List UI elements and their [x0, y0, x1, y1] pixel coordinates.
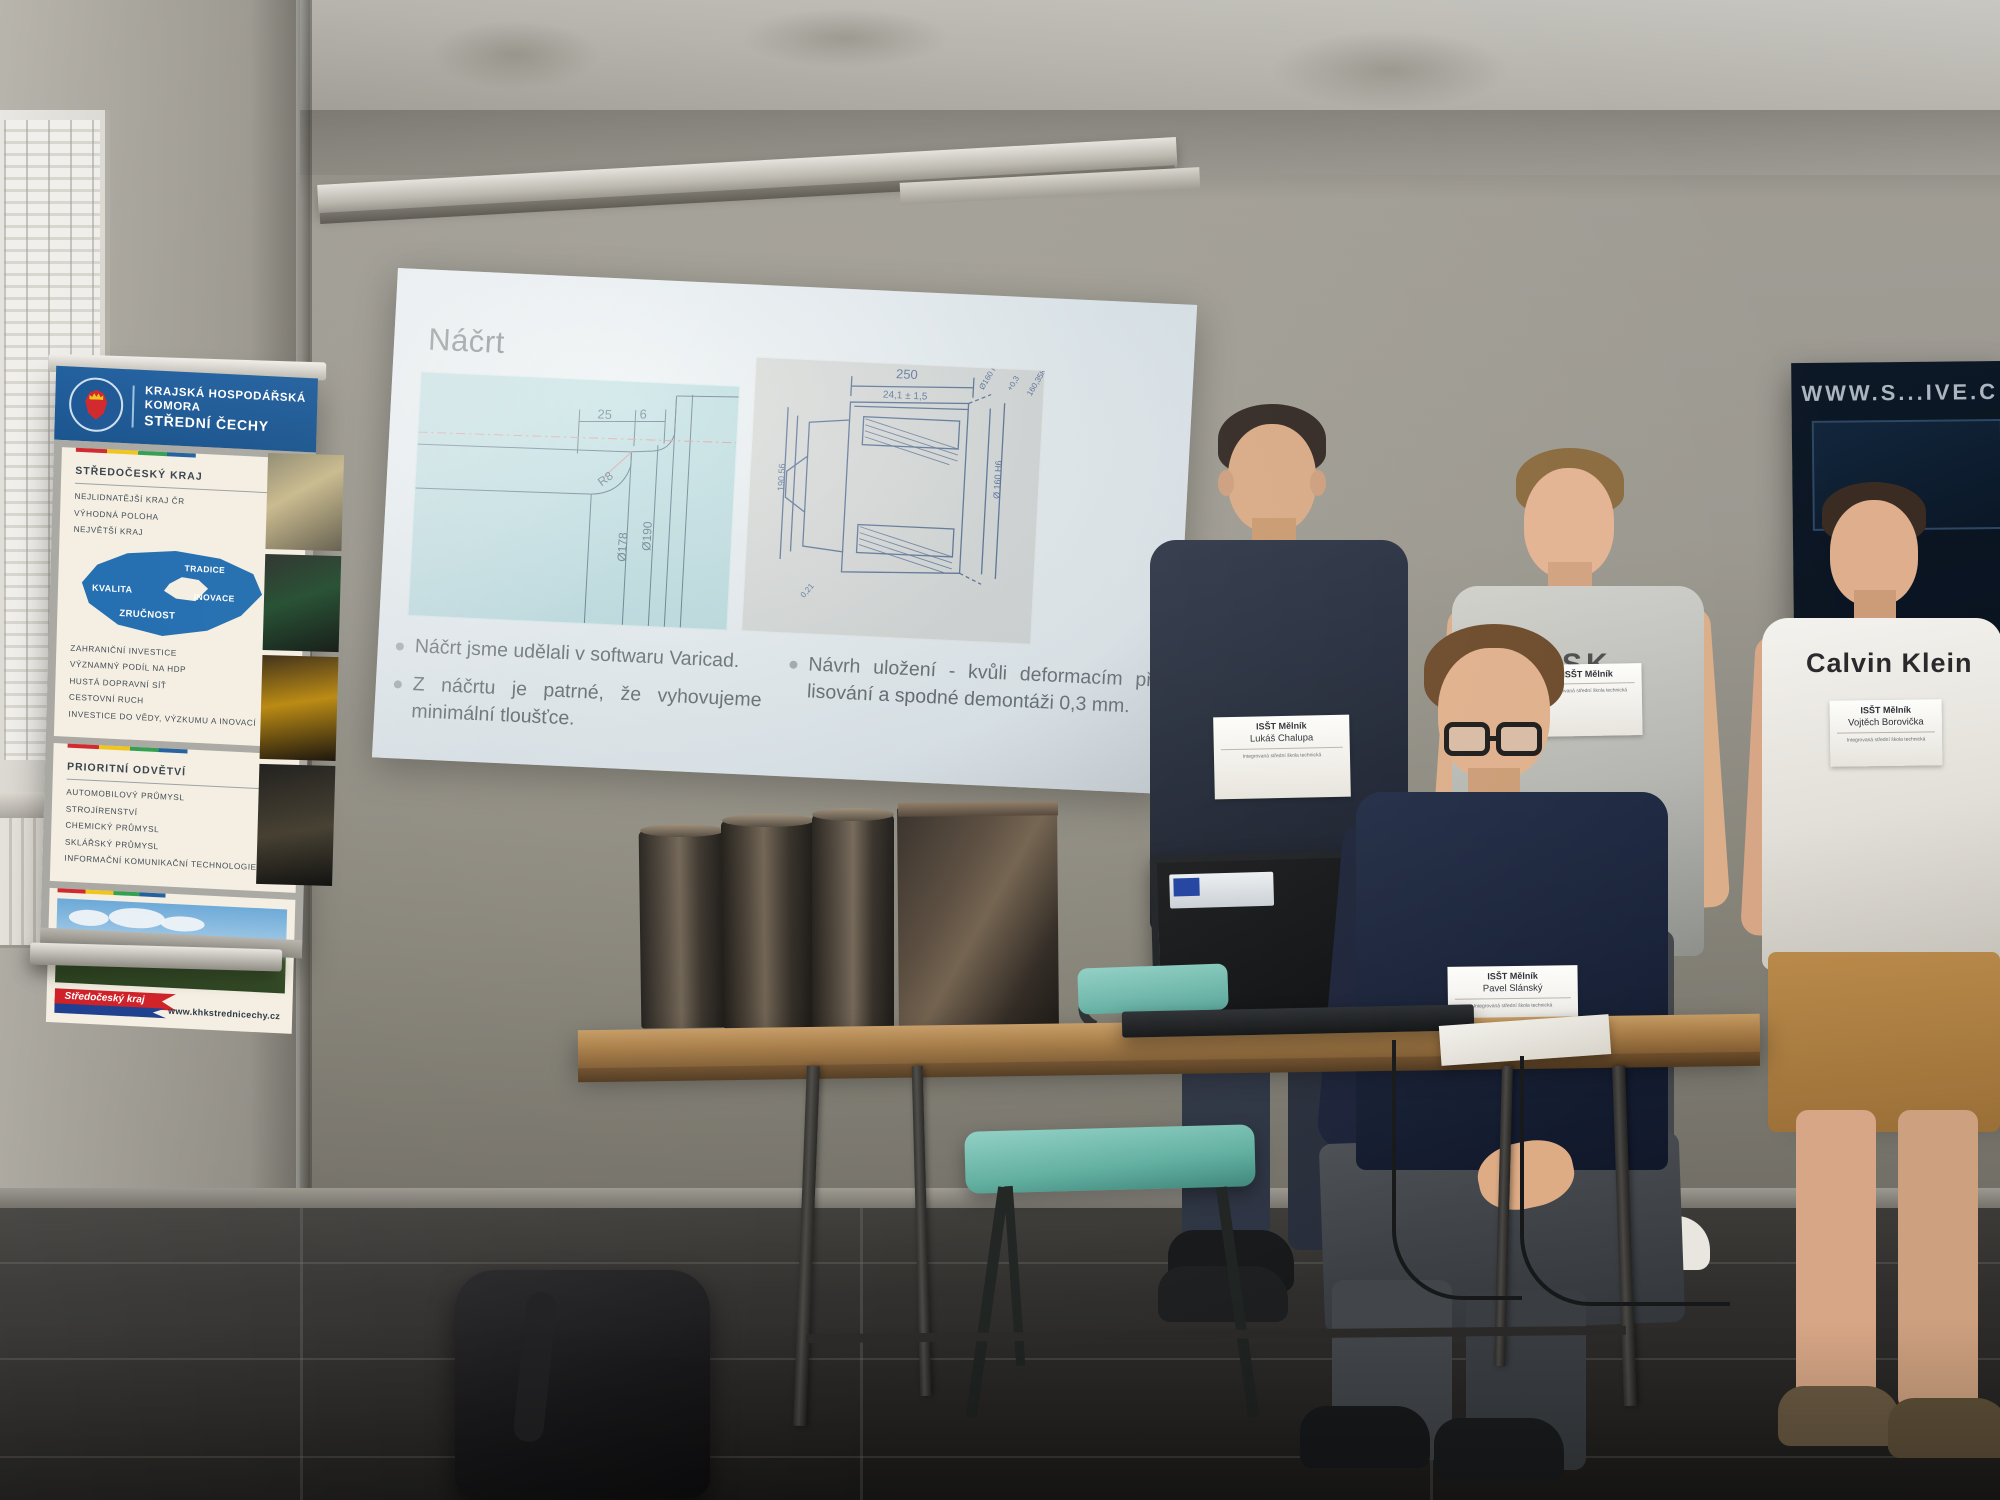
sketch-dim-241: 24,1 ± 1,5 [883, 390, 928, 403]
card-heading: PRIORITNÍ ODVĚTVÍ [67, 755, 287, 784]
dark-banner-top-text: WWW.S...IVE.C [1791, 379, 2000, 407]
ear-right [1310, 470, 1326, 496]
shoe-left [1300, 1406, 1430, 1468]
banner-org-name: KRAJSKÁ HOSPODÁŘSKÁ KOMORA STŘEDNÍ ČECHY [144, 385, 317, 437]
bullet-column-right: Návrh uložení - kvůli deformacím při lis… [785, 651, 1158, 771]
badge-rule [1221, 747, 1343, 751]
cylinder-rim [812, 808, 894, 821]
metal-cylinder [812, 814, 894, 1028]
cad-dim-190: Ø190 [639, 521, 655, 551]
badge-name: Lukáš Chalupa [1214, 732, 1350, 746]
ceiling-stain [740, 8, 950, 68]
eu-flag-icon [1173, 878, 1199, 897]
shirt-print: Calvin Klein [1806, 648, 1986, 682]
slide-title: Náčrt [427, 321, 505, 360]
badge-school: ISŠT Mělník [1448, 970, 1578, 982]
bullet-item: Návrh uložení - kvůli deformacím při lis… [787, 651, 1157, 722]
cloud [161, 915, 205, 932]
backpack [455, 1270, 710, 1498]
badge-school: ISŠT Mělník [1213, 720, 1349, 733]
projection-screen: Náčrt [372, 268, 1197, 794]
shoe-left [1778, 1386, 1900, 1446]
badge-rule [1455, 997, 1571, 1000]
eyeglasses-left-lens [1444, 722, 1490, 756]
badge-note: Integrovaná střední škola technická [1214, 752, 1350, 761]
sketch-note-4: 0,21 [799, 581, 816, 599]
bullet-text: Z náčrtu je patrné, že vyhovujeme minimá… [411, 671, 762, 741]
laptop-sticker [1169, 872, 1274, 909]
name-badge: ISŠT Mělník Lukáš Chalupa Integrovaná st… [1213, 715, 1351, 800]
bullet-dot-icon [789, 661, 797, 669]
leg-right [1898, 1110, 1978, 1410]
bullet-dot-icon [394, 680, 402, 688]
shorts [1768, 952, 2000, 1132]
cad-right-svg: 250 24,1 ± 1,5 190 56 Ø 160 H6 Ø160 H6 +… [742, 358, 1045, 645]
map-word: KVALITA [92, 582, 133, 594]
ear-left [1218, 470, 1234, 496]
shoe-right [1888, 1398, 2000, 1458]
banner-header: KRAJSKÁ HOSPODÁŘSKÁ KOMORA STŘEDNÍ ČECHY [54, 366, 318, 453]
badge-name: Pavel Slánský [1448, 982, 1578, 995]
cad-dim-25: 25 [597, 406, 612, 422]
bullet-item: Z náčrtu je patrné, že vyhovujeme minimá… [392, 670, 762, 741]
badge-note: Integrovaná střední škola technická [1830, 736, 1942, 744]
badge-school: ISŠT Mělník [1830, 704, 1942, 716]
eyeglasses-right-lens [1496, 722, 1542, 756]
metal-block [897, 807, 1059, 1030]
cloud [109, 906, 166, 929]
bullet-item: Náčrt jsme udělali v softwaru Varicad. [395, 632, 764, 676]
region-map: KVALITA TRADICE INOVACE ZRUČNOST [71, 541, 293, 648]
leg-left [1796, 1110, 1876, 1410]
shoe-left-sole [1158, 1266, 1288, 1322]
card-heading: STŘEDOČESKÝ KRAJ [75, 459, 295, 488]
sketch-note-3: 160,358 [1025, 367, 1045, 397]
ceiling-stain [1270, 30, 1510, 110]
slide-bullets: Náčrt jsme udělali v softwaru Varicad. Z… [391, 632, 1166, 770]
banner-photo [260, 655, 339, 761]
photo-scene: Náčrt [0, 0, 2000, 1500]
cad-dim-178: Ø178 [615, 532, 631, 562]
name-badge: ISŠT Mělník Vojtěch Borovička Integrovan… [1830, 699, 1943, 767]
map-word: INOVACE [194, 591, 235, 603]
sketch-dim-250: 250 [896, 366, 918, 382]
badge-name: Vojtěch Borovička [1830, 716, 1942, 729]
sketch-note-2: +0,3 [1005, 374, 1021, 393]
color-stripe [58, 888, 166, 897]
map-word: TRADICE [184, 563, 225, 575]
power-cable [1520, 1056, 1730, 1306]
cad-left-svg: 25 6 R8 Ø178 Ø190 [408, 372, 740, 630]
metal-cylinder [639, 829, 726, 1028]
bullet-column-left: Náčrt jsme udělali v softwaru Varicad. Z… [391, 632, 764, 752]
banner-photo-column [256, 453, 344, 891]
metal-cylinder [721, 820, 815, 1029]
crown-icon [89, 392, 103, 400]
color-stripe [76, 448, 196, 458]
chair-backrest [1077, 963, 1229, 1014]
flag-label: Středočeský kraj [64, 990, 144, 1005]
cylinder-rim [640, 824, 724, 837]
ceiling-stain [430, 20, 600, 90]
cloud [69, 908, 109, 926]
sketch-dim-160h6: Ø 160 H6 [992, 460, 1004, 499]
cad-drawing-right: 250 24,1 ± 1,5 190 56 Ø 160 H6 Ø160 H6 +… [741, 357, 1045, 645]
khk-logo-icon [68, 376, 123, 433]
bullet-text: Návrh uložení - kvůli deformacím při lis… [806, 651, 1157, 721]
banner-photo [256, 764, 335, 886]
color-stripe [68, 744, 188, 754]
head [1438, 648, 1550, 780]
card-item: INFORMAČNÍ KOMUNIKAČNÍ TECHNOLOGIE [64, 854, 284, 875]
bullet-text: Náčrt jsme udělali v softwaru Varicad. [414, 633, 740, 675]
banner-photo [265, 453, 344, 551]
cylinder-rim [722, 814, 814, 827]
head [1228, 424, 1316, 532]
banner-website-url: www.khkstrednicechy.cz [168, 1005, 280, 1020]
sketch-dim-19056: 190 56 [776, 463, 787, 491]
region-flag-tag: Středočeský kraj [54, 988, 177, 1020]
bullet-dot-icon [396, 642, 404, 650]
badge-rule [1837, 731, 1935, 733]
shoe-right [1434, 1418, 1564, 1480]
metal-block-top [898, 801, 1058, 816]
sketch-note-1: Ø160 H6 [977, 359, 1002, 392]
divider [132, 385, 135, 427]
cad-dim-r8: R8 [595, 468, 616, 489]
banner-photo [263, 554, 342, 652]
cad-dim-6: 6 [639, 406, 647, 421]
chair-seat [964, 1124, 1256, 1194]
power-cable [1392, 1040, 1522, 1300]
cad-drawing-left: 25 6 R8 Ø178 Ø190 [408, 371, 741, 630]
torso: Calvin Klein [1762, 618, 2000, 970]
eyeglasses-bridge [1489, 736, 1499, 741]
lion-emblem-icon [83, 389, 110, 420]
